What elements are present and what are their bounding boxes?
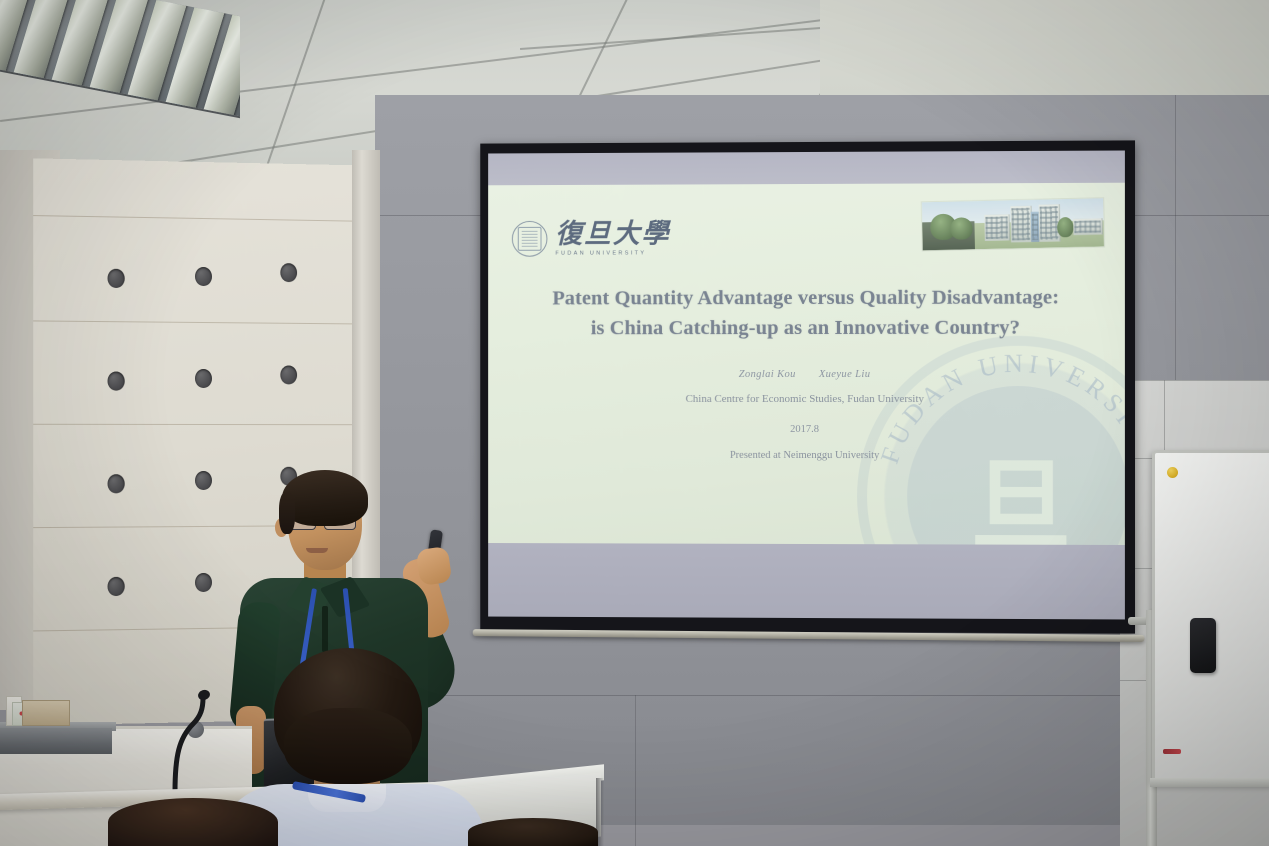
campus-photo-banner	[921, 197, 1105, 251]
presentation-slide: 復旦大學 FUDAN UNIVERSITY	[488, 183, 1125, 545]
author-1: Zonglai Kou	[739, 369, 796, 380]
slide-title-line2: is China Catching-up as an Innovative Co…	[488, 313, 1125, 343]
presenter-hair-side	[279, 492, 295, 534]
lecture-hall-scene: 復旦大學 FUDAN UNIVERSITY	[0, 0, 1269, 846]
whiteboard	[1152, 450, 1269, 786]
slide-venue: Presented at Neimenggu University	[488, 450, 1125, 462]
gooseneck-microphone	[163, 686, 211, 792]
projection-screen: 復旦大學 FUDAN UNIVERSITY	[480, 140, 1135, 633]
fudan-logo-chinese: 復旦大學	[555, 220, 670, 247]
author-2: Xueyue Liu	[819, 369, 871, 380]
attendee-hair-lower	[284, 708, 412, 784]
presenter-mouth	[306, 548, 328, 553]
screen-surface: 復旦大學 FUDAN UNIVERSITY	[488, 151, 1125, 620]
fudan-logo-english: FUDAN UNIVERSITY	[555, 250, 670, 256]
seated-attendee-left	[108, 798, 278, 846]
whiteboard-magnet	[1167, 467, 1178, 478]
fudan-seal-icon	[512, 221, 548, 257]
screen-top-band	[488, 151, 1125, 186]
presenter-placket	[322, 606, 328, 652]
side-desk	[0, 728, 112, 754]
fudan-watermark: FUDAN UNIVERSITY 旦	[857, 336, 1125, 545]
slide-date: 2017.8	[488, 424, 1125, 436]
whiteboard-tray	[1150, 778, 1269, 787]
whiteboard-marker	[1163, 749, 1181, 754]
seated-attendee-center	[468, 818, 598, 846]
watermark-seal-glyph: 旦	[907, 386, 1125, 545]
seated-attendee-front	[256, 648, 446, 846]
slide-affiliation: China Centre for Economic Studies, Fudan…	[488, 393, 1125, 405]
cardboard-box	[22, 700, 70, 726]
presenter-right-hand	[416, 546, 453, 586]
whiteboard-eraser	[1190, 618, 1216, 673]
fluorescent-louver-fixture	[0, 0, 240, 118]
slide-title: Patent Quantity Advantage versus Quality…	[488, 283, 1125, 343]
screen-bottom-band	[488, 543, 1125, 619]
slide-title-line1: Patent Quantity Advantage versus Quality…	[488, 283, 1125, 314]
slide-authors: Zonglai Kou Xueyue Liu	[488, 369, 1125, 380]
fudan-logo: 復旦大學 FUDAN UNIVERSITY	[512, 220, 671, 256]
